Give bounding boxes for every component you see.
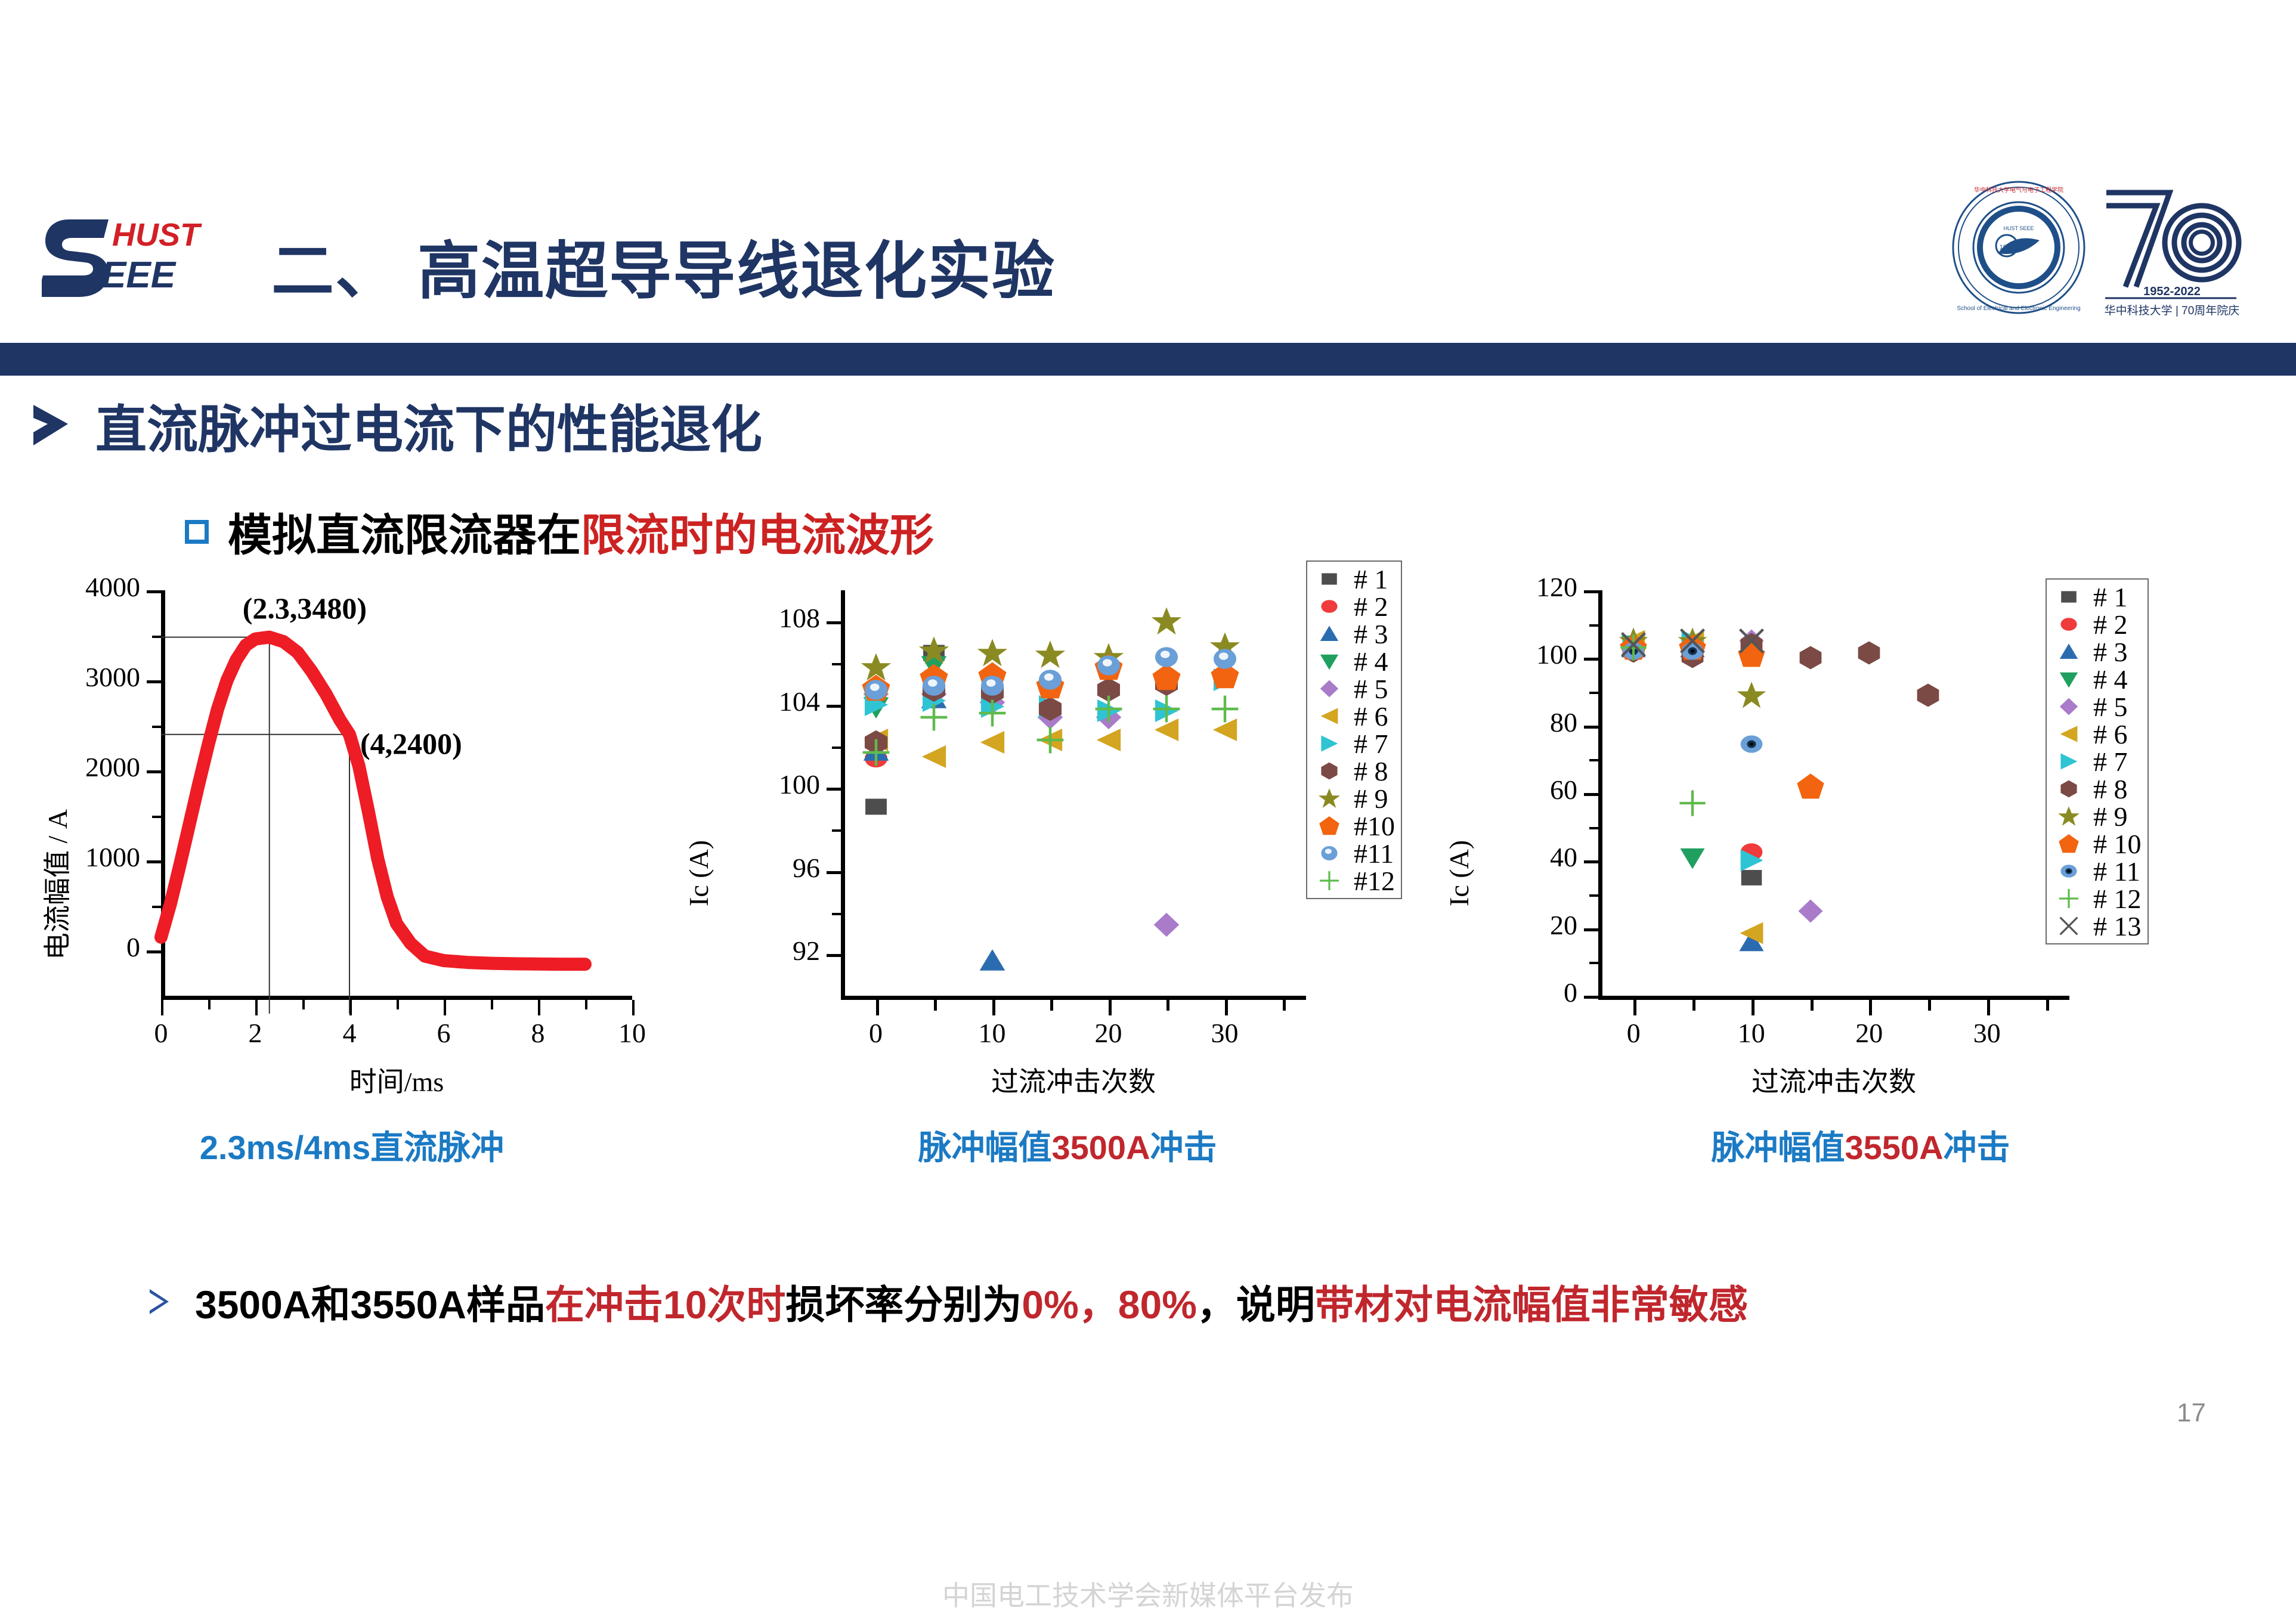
y-tick xyxy=(1584,928,1598,931)
y-tick xyxy=(827,788,841,791)
legend-marker-icon xyxy=(2050,885,2087,912)
data-point xyxy=(1735,625,1768,657)
bullet-heading: 模拟直流限流器在限流时的电流波形 xyxy=(185,500,934,563)
section-title-text: 直流脉冲过电流下的性能退化 xyxy=(95,388,762,462)
svg-text:EEE: EEE xyxy=(101,255,177,296)
legend-marker-icon xyxy=(2050,583,2087,611)
caption-chart3-post: 冲击 xyxy=(1944,1129,2010,1166)
caption-chart1: 2.3ms/4ms直流脉冲 xyxy=(0,1121,704,1169)
data-point xyxy=(1033,663,1067,696)
legend-marker-icon xyxy=(1311,593,1348,620)
data-point xyxy=(1208,642,1242,676)
legend-item[interactable]: #12 xyxy=(1311,867,1395,894)
svg-text:School of Electrical and Elect: School of Electrical and Electronic Engi… xyxy=(1957,305,2080,312)
annotation-cut: (4,2400) xyxy=(360,726,462,761)
y-minor-tick xyxy=(1589,827,1598,829)
y-tick xyxy=(1584,793,1598,796)
legend-item[interactable]: # 13 xyxy=(2050,912,2142,940)
legend-item[interactable]: # 12 xyxy=(2050,885,2142,912)
data-point xyxy=(1676,841,1709,874)
waveform-svg xyxy=(12,572,704,1091)
legend-item[interactable]: # 4 xyxy=(2050,665,2142,693)
y-minor-tick xyxy=(1589,962,1598,964)
caption-chart3: 脉冲幅值3550A冲击 xyxy=(1443,1121,2278,1169)
caption-chart2: 脉冲幅值3500A冲击 xyxy=(704,1121,1431,1169)
legend-item[interactable]: # 2 xyxy=(2050,611,2142,638)
y-minor-tick xyxy=(832,913,841,915)
legend-marker-icon xyxy=(1311,867,1348,894)
x-tick-label: 10 xyxy=(957,1017,1028,1049)
y-tick xyxy=(827,705,841,708)
y-axis-line xyxy=(841,590,845,996)
school-emblem-icon: 1952 HUST SEEE 华中科技大学电气与电子工程学院 School of… xyxy=(1950,179,2087,316)
y-tick-label: 92 xyxy=(719,935,820,967)
x-tick xyxy=(1692,1000,1695,1011)
data-point xyxy=(917,740,951,773)
legend-marker-icon xyxy=(2050,611,2087,638)
y-minor-tick xyxy=(1589,894,1598,897)
legend-marker-icon xyxy=(2050,748,2087,775)
legend-marker-icon xyxy=(2050,830,2087,857)
conclusion-row: 3500A和3550A样品在冲击10次时损坏率分别为0%，80%，说明带材对电流… xyxy=(146,1273,1748,1330)
x-tick xyxy=(992,1000,995,1015)
y-tick xyxy=(827,871,841,874)
caption-chart1-text: 2.3ms/4ms直流脉冲 xyxy=(200,1129,504,1166)
y-tick xyxy=(1584,996,1598,999)
data-point xyxy=(1150,640,1183,674)
x-tick-label: 30 xyxy=(1951,1017,2023,1049)
data-point xyxy=(1150,605,1183,638)
legend-marker-icon xyxy=(1311,648,1348,675)
arrow-right-bullet-icon xyxy=(146,1287,172,1317)
watermark: 中国电工技术学会新媒体平台发布 xyxy=(0,1574,2296,1613)
chart-ic-3550a: 0102030020406080100120Ic (A)过流冲击次数# 1# 2… xyxy=(1449,572,2284,1091)
legend-marker-icon xyxy=(2050,775,2087,803)
data-point xyxy=(1853,637,1885,669)
y-tick-label: 100 xyxy=(1479,639,1577,670)
x-tick xyxy=(1928,1000,1931,1011)
legend-marker-icon xyxy=(1311,702,1348,730)
legend-marker-icon xyxy=(2050,638,2087,665)
caption-chart3-pre: 脉冲幅值 xyxy=(1711,1129,1845,1166)
data-point xyxy=(1794,770,1827,803)
legend-item[interactable]: # 1 xyxy=(1311,565,1395,593)
conclusion-part3: ，说明 xyxy=(1197,1283,1315,1327)
svg-text:HUST SEEE: HUST SEEE xyxy=(2004,225,2034,231)
legend-item[interactable]: # 6 xyxy=(1311,702,1395,730)
legend-item[interactable]: # 3 xyxy=(1311,620,1395,648)
data-point xyxy=(1676,625,1709,657)
x-axis-line xyxy=(1598,996,2069,1000)
x-tick xyxy=(934,1000,937,1011)
svg-text:HUST: HUST xyxy=(112,217,202,253)
x-tick xyxy=(1166,1000,1169,1011)
y-tick xyxy=(1584,726,1598,729)
svg-text:华中科技大学电气与电子工程学院: 华中科技大学电气与电子工程学院 xyxy=(1974,186,2063,194)
page-number: 17 xyxy=(2177,1398,2206,1428)
anniversary-70-icon: 1952-2022 华中科技大学 | 70周年院庆 xyxy=(2099,176,2248,319)
conclusion-part1: 3500A和3550A样品 xyxy=(195,1283,545,1327)
conclusion-red2: 0%，80% xyxy=(1022,1283,1197,1327)
conclusion-red3: 带材对电流幅值非常敏感 xyxy=(1315,1283,1748,1327)
y-tick-label: 20 xyxy=(1479,909,1577,941)
data-point xyxy=(1676,787,1709,819)
data-point xyxy=(976,944,1009,977)
data-point xyxy=(917,669,951,702)
y-tick xyxy=(1584,658,1598,661)
conclusion-red1: 在冲击10次时 xyxy=(545,1283,785,1327)
y-tick-label: 108 xyxy=(719,602,820,634)
y-tick-label: 80 xyxy=(1479,707,1577,738)
section-heading: 直流脉冲过电流下的性能退化 xyxy=(30,388,762,462)
data-point xyxy=(1150,908,1183,941)
y-axis-title: Ic (A) xyxy=(683,840,714,906)
legend-label: #12 xyxy=(1354,865,1395,897)
legend-marker-icon xyxy=(1311,812,1348,840)
data-point xyxy=(1735,679,1768,711)
chart-legend: # 1# 2# 3# 4# 5# 6# 7# 8# 9#10#11#12 xyxy=(1306,560,1402,899)
legend-marker-icon xyxy=(2050,857,2087,885)
y-tick-label: 104 xyxy=(719,686,820,717)
data-point xyxy=(917,701,951,734)
x-tick xyxy=(2046,1000,2049,1011)
y-minor-tick xyxy=(1589,759,1598,761)
seee-logo: HUST EEE xyxy=(42,209,292,310)
data-point xyxy=(1735,728,1768,760)
x-tick xyxy=(876,1000,879,1015)
caption-chart2-pre: 脉冲幅值 xyxy=(918,1129,1051,1166)
legend-label: # 13 xyxy=(2093,910,2142,942)
bullet-text-highlight: 限流时的电流波形 xyxy=(581,510,934,560)
y-tick xyxy=(827,954,841,957)
legend-marker-icon xyxy=(1311,565,1348,593)
header-divider-band xyxy=(0,343,2296,376)
legend-marker-icon xyxy=(2050,720,2087,748)
legend-marker-icon xyxy=(1311,675,1348,702)
square-bullet-icon xyxy=(185,520,209,544)
y-tick-label: 0 xyxy=(1479,977,1577,1008)
chart-legend: # 1# 2# 3# 4# 5# 6# 7# 8# 9# 10# 11# 12#… xyxy=(2046,578,2149,944)
legend-marker-icon xyxy=(1311,840,1348,867)
y-minor-tick xyxy=(1589,692,1598,694)
x-tick xyxy=(1225,1000,1228,1015)
legend-item[interactable]: # 7 xyxy=(1311,730,1395,757)
data-point xyxy=(1735,844,1768,876)
caption-chart3-value: 3550A xyxy=(1845,1129,1943,1166)
legend-item[interactable]: # 8 xyxy=(2050,775,2142,803)
svg-text:1952-2022: 1952-2022 xyxy=(2143,285,2201,298)
y-tick-label: 96 xyxy=(719,852,820,884)
chart-current-waveform: 024681001000200030004000电流幅值 / A时间/ms(2.… xyxy=(12,572,704,1091)
conclusion-part2: 损坏率分别为 xyxy=(785,1283,1022,1327)
legend-item[interactable]: # 8 xyxy=(1311,757,1395,785)
x-tick-label: 0 xyxy=(840,1017,912,1049)
x-axis-line xyxy=(841,996,1306,1000)
conclusion-text: 3500A和3550A样品在冲击10次时损坏率分别为0%，80%，说明带材对电流… xyxy=(195,1273,1748,1330)
bullet-text-plain: 模拟直流限流器在 xyxy=(228,510,581,560)
y-tick xyxy=(1584,860,1598,863)
legend-marker-icon xyxy=(1311,620,1348,648)
data-point xyxy=(976,726,1009,759)
x-tick xyxy=(1987,1000,1990,1015)
x-tick-label: 10 xyxy=(1716,1017,1787,1049)
legend-item[interactable]: # 5 xyxy=(1311,675,1395,702)
y-tick-label: 40 xyxy=(1479,841,1577,873)
y-tick-label: 60 xyxy=(1479,774,1577,806)
legend-marker-icon xyxy=(2050,803,2087,830)
legend-item[interactable]: # 9 xyxy=(2050,803,2142,830)
legend-marker-icon xyxy=(2050,693,2087,720)
data-point xyxy=(1092,649,1125,682)
legend-marker-icon xyxy=(2050,665,2087,693)
legend-item[interactable]: # 10 xyxy=(2050,830,2142,857)
y-minor-tick xyxy=(832,829,841,832)
x-tick-label: 20 xyxy=(1073,1017,1144,1049)
x-tick xyxy=(1869,1000,1872,1015)
svg-text:1952: 1952 xyxy=(2000,244,2014,251)
legend-item[interactable]: # 2 xyxy=(1311,593,1395,620)
x-tick-label: 0 xyxy=(1598,1017,1669,1049)
legend-item[interactable]: #11 xyxy=(1311,840,1395,867)
data-point xyxy=(976,696,1009,730)
x-tick xyxy=(1633,1000,1636,1015)
legend-item[interactable]: # 4 xyxy=(1311,648,1395,675)
data-point xyxy=(859,673,893,707)
data-point xyxy=(1092,692,1125,726)
data-point xyxy=(1794,642,1827,674)
y-tick-label: 100 xyxy=(719,769,820,800)
data-point xyxy=(859,790,893,823)
legend-item[interactable]: #10 xyxy=(1311,812,1395,840)
x-tick xyxy=(1109,1000,1112,1015)
caption-chart2-post: 冲击 xyxy=(1150,1129,1217,1166)
data-point xyxy=(1794,895,1827,927)
legend-item[interactable]: # 1 xyxy=(2050,583,2142,611)
data-point xyxy=(1150,692,1183,726)
legend-item[interactable]: # 11 xyxy=(2050,857,2142,885)
x-axis-title: 过流冲击次数 xyxy=(1598,1060,2069,1099)
caption-chart2-value: 3500A xyxy=(1051,1129,1150,1166)
data-point xyxy=(1092,723,1125,757)
legend-item[interactable]: # 3 xyxy=(2050,638,2142,665)
page-title: 二、 高温超导导线退化实验 xyxy=(271,221,1056,311)
y-minor-tick xyxy=(832,747,841,749)
y-tick xyxy=(827,621,841,624)
data-point xyxy=(1617,628,1650,661)
legend-item[interactable]: # 5 xyxy=(2050,693,2142,720)
data-point xyxy=(1735,917,1768,949)
legend-marker-icon xyxy=(1311,785,1348,812)
y-axis-title: Ic (A) xyxy=(1443,840,1475,906)
y-minor-tick xyxy=(832,663,841,665)
data-point xyxy=(1912,679,1944,711)
data-point xyxy=(1208,692,1242,726)
legend-item[interactable]: # 6 xyxy=(2050,720,2142,748)
legend-marker-icon xyxy=(1311,757,1348,785)
x-tick xyxy=(1752,1000,1755,1015)
data-point xyxy=(859,736,893,769)
y-tick xyxy=(1584,590,1598,593)
x-tick-label: 30 xyxy=(1189,1017,1261,1049)
legend-marker-icon xyxy=(1311,730,1348,757)
x-tick xyxy=(1050,1000,1053,1011)
x-axis-title: 过流冲击次数 xyxy=(841,1060,1306,1099)
svg-text:华中科技大学 | 70周年院庆: 华中科技大学 | 70周年院庆 xyxy=(2105,304,2240,317)
bullet-heading-text: 模拟直流限流器在限流时的电流波形 xyxy=(228,500,934,563)
y-axis-line xyxy=(1598,590,1602,996)
x-tick xyxy=(1283,1000,1286,1011)
legend-item[interactable]: # 9 xyxy=(1311,785,1395,812)
data-point xyxy=(1033,723,1067,757)
chevron-right-icon xyxy=(30,401,78,449)
legend-marker-icon xyxy=(2050,912,2087,940)
chart-ic-3500a: 01020309296100104108Ic (A)过流冲击次数# 1# 2# … xyxy=(698,572,1425,1091)
x-tick xyxy=(1811,1000,1814,1011)
legend-item[interactable]: # 7 xyxy=(2050,748,2142,775)
y-tick-label: 120 xyxy=(1479,571,1577,603)
y-minor-tick xyxy=(1589,624,1598,627)
x-tick-label: 20 xyxy=(1833,1017,1905,1049)
annotation-peak: (2.3,3480) xyxy=(243,591,367,625)
